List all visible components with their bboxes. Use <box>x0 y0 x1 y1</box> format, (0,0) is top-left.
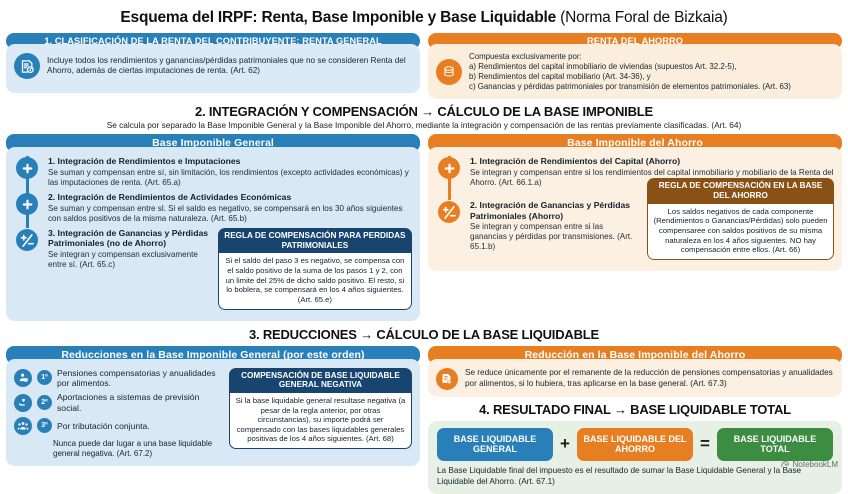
section-2: Base Imponible General 1. Integración de… <box>6 134 842 320</box>
plus-minus-icon <box>438 201 460 223</box>
base-liquidable-total-box: BASE LIQUIDABLE TOTAL <box>717 428 833 462</box>
section-2-title: 2. INTEGRACIÓN Y COMPENSACIÓN → CÁLCULO … <box>6 104 842 119</box>
plus-operator: + <box>560 434 570 454</box>
regla-compensacion-perdidas-callout: REGLA DE COMPENSACIÓN PARA PERDIDAS PATR… <box>218 228 412 309</box>
renta-ahorro-line-2: b) Rendimientos del capital mobiliario (… <box>469 72 791 82</box>
bi-ahorro-step-text: Se integran y compensan entre si las gan… <box>470 222 641 253</box>
hand-heart-icon <box>14 394 32 412</box>
section-4-final: BASE LIQUIDABLE GENERAL + BASE LIQUIDABL… <box>428 421 842 494</box>
reduccion-item: 1º Pensiones compensatorias y anualidade… <box>14 368 221 389</box>
bi-general-step-heading: 1. Integración de Rendimientos e Imputac… <box>48 156 412 166</box>
page-title-sub: (Norma Foral de Bizkaia) <box>560 9 727 26</box>
base-liquidable-general-box: BASE LIQUIDABLE GENERAL <box>437 428 553 462</box>
renta-ahorro-lines: Compuesta exclusivamente por: a) Rendimi… <box>469 52 791 92</box>
bi-ahorro-body: 1. Integración de Rendimientos del Capit… <box>428 147 842 270</box>
invoice-dollar-icon <box>14 53 40 79</box>
notebooklm-watermark: NotebookLM <box>780 459 838 469</box>
reducciones-general-footnote: Nunca puede dar lugar a una base liquida… <box>53 439 221 459</box>
watermark-label: NotebookLM <box>793 460 838 469</box>
reduccion-ahorro-and-final: Reducción en la Base Imponible del Ahorr… <box>428 346 842 494</box>
base-imponible-ahorro: Base Imponible del Ahorro 1. Integración… <box>428 134 842 270</box>
bi-general-step-heading: 3. Integración de Ganancias y Pérdidas P… <box>48 228 212 249</box>
formula: BASE LIQUIDABLE GENERAL + BASE LIQUIDABL… <box>437 428 833 462</box>
reduccion-item: 2º Aportaciones a sistemas de previsión … <box>14 392 221 413</box>
bi-ahorro-step-heading: 2. Integración de Ganancias y Pérdidas P… <box>470 200 641 221</box>
reduccion-item: 3º Por tributación conjunta. <box>14 417 221 435</box>
base-liquidable-ahorro-box: BASE LIQUIDABLE DEL AHORRO <box>577 428 693 462</box>
page-title-main: Esquema del IRPF: Renta, Base Imponible … <box>120 9 560 26</box>
bi-general-step-text: Se suman y compensan entre sl. Si el sal… <box>48 204 412 225</box>
renta-ahorro-line-1: a) Rendimientos del capital inmobiliario… <box>469 62 791 72</box>
callout-body: Si el saldo del paso 3 es negativo, se c… <box>218 253 412 309</box>
compensacion-bl-negativa-callout: COMPENSACIÓN DE BASE LIQUIDABLE GENERAL … <box>229 368 412 460</box>
bi-general-step-text: Se integran y compensan exclusivamente e… <box>48 250 212 271</box>
callout-header: COMPENSACIÓN DE BASE LIQUIDABLE GENERAL … <box>229 368 412 393</box>
bi-general-step: 2. Integración de Rendimientos de Activi… <box>14 192 412 228</box>
callout-header: REGLA DE COMPENSACIÓN EN LA BASE DEL AHO… <box>647 178 834 203</box>
renta-ahorro-body: Compuesta exclusivamente por: a) Rendimi… <box>428 44 842 99</box>
reduccion-item-text: Por tributación conjunta. <box>57 421 150 431</box>
reduccion-item-text: Pensiones compensatorias y anualidades p… <box>57 368 221 389</box>
reducciones-general: Reducciones en la Base Imponible General… <box>6 346 420 467</box>
bi-general-step: 3. Integración de Ganancias y Pérdidas P… <box>14 228 412 313</box>
section-3-title: 3. REDUCCIONES → CÁLCULO DE LA BASE LIQU… <box>6 327 842 342</box>
bi-general-step-text: Se suman y compensan entre sí, sin limit… <box>48 168 412 189</box>
plus-icon <box>16 157 38 179</box>
regla-compensacion-ahorro-callout: REGLA DE COMPENSACIÓN EN LA BASE DEL AHO… <box>647 178 834 259</box>
plus-minus-icon <box>16 229 38 251</box>
callout-body: Si la base liquidable general resultase … <box>229 393 412 449</box>
renta-ahorro-line-0: Compuesta exclusivamente por: <box>469 52 791 62</box>
page-title: Esquema del IRPF: Renta, Base Imponible … <box>6 0 842 27</box>
section-2-subtitle: Se calcula por separado la Base Imponibl… <box>6 120 842 130</box>
document-minus-icon <box>436 368 458 390</box>
coin-stack-icon <box>436 59 462 85</box>
base-imponible-general: Base Imponible General 1. Integración de… <box>6 134 420 320</box>
reduccion-ahorro-body: Se reduce únicamente por el remanente de… <box>428 359 842 397</box>
section-4-title: 4. RESULTADO FINAL → BASE LIQUIDABLE TOT… <box>428 402 842 417</box>
bi-general-step-heading: 2. Integración de Rendimientos de Activi… <box>48 192 412 202</box>
renta-general-body: Incluye todos los rendimientos y gananci… <box>6 44 420 93</box>
person-badge-icon <box>14 369 32 387</box>
callout-body: Los saldos negativos de cada componente … <box>647 204 834 260</box>
reduccion-item-text: Aportaciones a sistemas de previsión soc… <box>57 392 221 413</box>
section-1-left: 1. CLASIFICACIÓN DE LA RENTA DEL CONTRIB… <box>6 33 420 93</box>
group-people-icon <box>14 417 32 435</box>
callout-header: REGLA DE COMPENSACIÓN PARA PERDIDAS PATR… <box>218 228 412 253</box>
order-number-badge: 3º <box>37 418 52 433</box>
bi-ahorro-step-heading: 1. Integración de Rendimientos del Capit… <box>470 156 834 166</box>
section-1-right: RENTA DEL AHORRO Compuesta exclusivament… <box>428 33 842 99</box>
bi-ahorro-step: 2. Integración de Ganancias y Pérdidas P… <box>436 200 834 263</box>
order-number-badge: 1º <box>37 370 52 385</box>
final-note: La Base Liquidable final del impuesto es… <box>437 466 833 487</box>
section-1: 1. CLASIFICACIÓN DE LA RENTA DEL CONTRIB… <box>6 33 842 99</box>
renta-ahorro-line-3: c) Ganancias y pérdidas patrimoniales po… <box>469 82 791 92</box>
bi-general-body: 1. Integración de Rendimientos e Imputac… <box>6 147 420 320</box>
plus-icon <box>438 157 460 179</box>
section-3: Reducciones en la Base Imponible General… <box>6 346 842 494</box>
renta-general-text: Incluye todos los rendimientos y gananci… <box>47 56 412 77</box>
order-number-badge: 2º <box>37 395 52 410</box>
reducciones-general-body: 1º Pensiones compensatorias y anualidade… <box>6 359 420 467</box>
bi-general-step: 1. Integración de Rendimientos e Imputac… <box>14 156 412 192</box>
reduccion-ahorro-text: Se reduce únicamente por el remanente de… <box>465 368 834 389</box>
plus-icon <box>16 193 38 215</box>
infographic-page: Esquema del IRPF: Renta, Base Imponible … <box>0 0 848 473</box>
equals-operator: = <box>700 434 710 454</box>
